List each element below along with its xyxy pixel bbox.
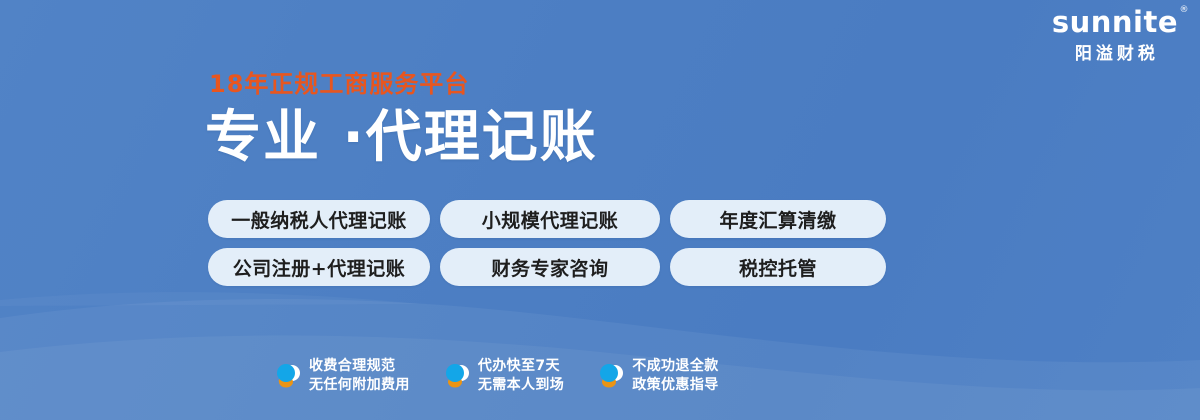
- hero-copy: 18年正规工商服务平台 专业 ·代理记账: [205, 72, 598, 166]
- dot-crescent-icon: [444, 361, 470, 389]
- service-pill-annual-settlement[interactable]: 年度汇算清缴: [670, 200, 886, 238]
- feature-line-1: 代办快至7天: [478, 358, 564, 374]
- feature-text-speed: 代办快至7天 无需本人到场: [478, 358, 564, 393]
- service-pill-row-1: 一般纳税人代理记账 小规模代理记账 年度汇算清缴: [208, 200, 886, 238]
- service-pill-tax-control-hosting[interactable]: 税控托管: [670, 248, 886, 286]
- feature-line-2: 无任何附加费用: [309, 377, 410, 393]
- service-pill-general-taxpayer[interactable]: 一般纳税人代理记账: [208, 200, 430, 238]
- dot-crescent-icon: [275, 361, 301, 389]
- service-pill-company-registration[interactable]: 公司注册+代理记账: [208, 248, 430, 286]
- feature-item-guarantee: 不成功退全款 政策优惠指导: [598, 358, 718, 393]
- hero-eyebrow: 18年正规工商服务平台: [209, 72, 598, 96]
- feature-text-guarantee: 不成功退全款 政策优惠指导: [632, 358, 718, 393]
- logo-subtitle: 阳溢财税: [1052, 46, 1178, 63]
- feature-line-1: 收费合理规范: [309, 358, 410, 374]
- feature-item-speed: 代办快至7天 无需本人到场: [444, 358, 564, 393]
- service-pill-row-2: 公司注册+代理记账 财务专家咨询 税控托管: [208, 248, 886, 286]
- service-pill-expert-consulting[interactable]: 财务专家咨询: [440, 248, 660, 286]
- dot-crescent-icon: [598, 361, 624, 389]
- feature-item-pricing: 收费合理规范 无任何附加费用: [275, 358, 410, 393]
- hero-headline: 专业 ·代理记账: [205, 110, 598, 166]
- feature-line-2: 政策优惠指导: [632, 377, 718, 393]
- feature-line-2: 无需本人到场: [478, 377, 564, 393]
- feature-strip: 收费合理规范 无任何附加费用 代办快至7天 无需本人到场 不成功退全款: [275, 358, 719, 393]
- logo-wordmark: sunnite ®: [1052, 8, 1178, 37]
- brand-logo: sunnite ® 阳溢财税: [1052, 8, 1178, 63]
- registered-trademark-icon: ®: [1180, 6, 1190, 15]
- feature-text-pricing: 收费合理规范 无任何附加费用: [309, 358, 410, 393]
- service-pill-grid: 一般纳税人代理记账 小规模代理记账 年度汇算清缴 公司注册+代理记账 财务专家咨…: [208, 200, 886, 286]
- feature-line-1: 不成功退全款: [632, 358, 718, 374]
- logo-wordmark-text: sunnite: [1052, 5, 1178, 39]
- promo-banner: sunnite ® 阳溢财税 18年正规工商服务平台 专业 ·代理记账 一般纳税…: [0, 0, 1200, 420]
- service-pill-small-scale[interactable]: 小规模代理记账: [440, 200, 660, 238]
